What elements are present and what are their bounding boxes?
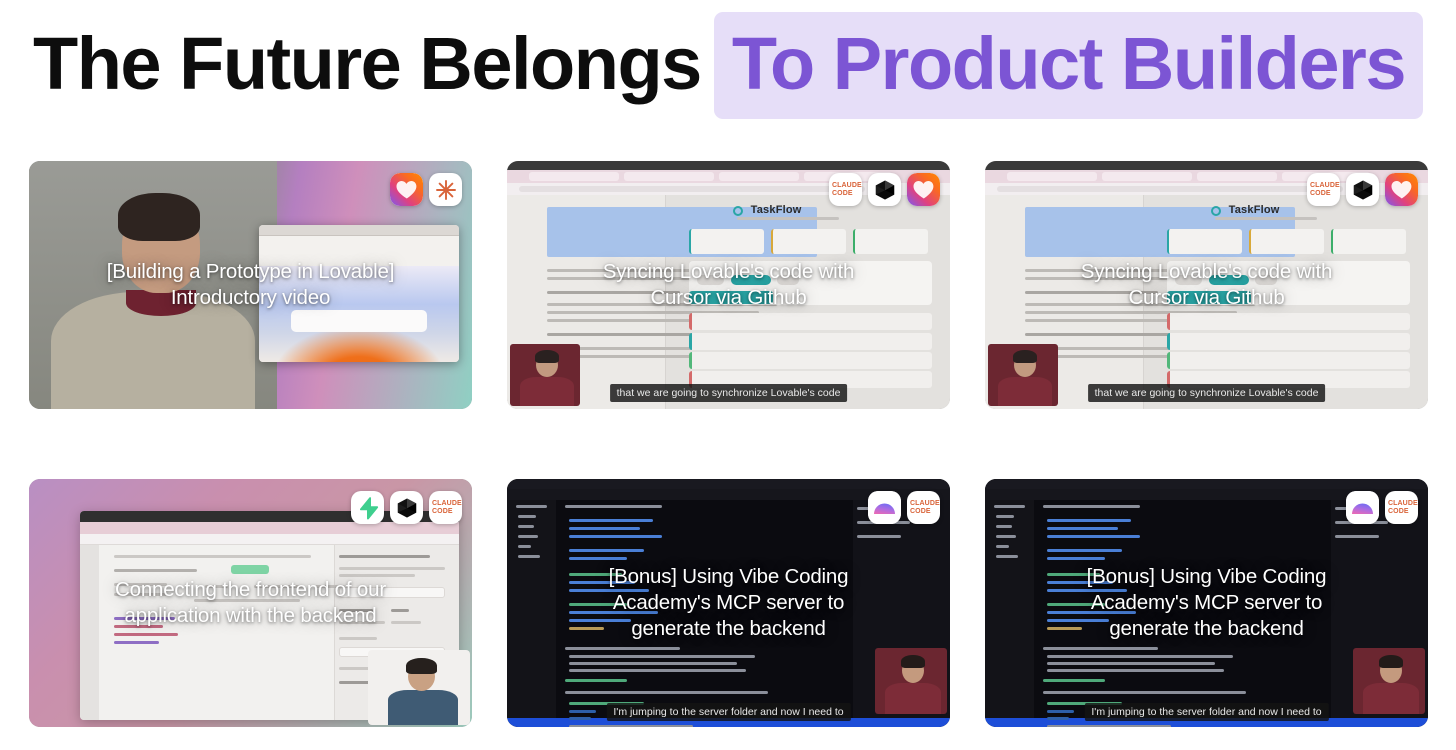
page-title-plain: The Future Belongs bbox=[33, 22, 701, 105]
caption-strip: I'm jumping to the server folder and now… bbox=[1084, 703, 1328, 721]
burst-star-icon[interactable] bbox=[429, 173, 462, 206]
video-card[interactable]: CLAUDE CODE [Bonus] Using Vibe Coding Ac… bbox=[507, 479, 950, 727]
page-title-highlight: To Product Builders bbox=[714, 12, 1423, 119]
video-card[interactable]: TaskFlow CLAUDE bbox=[985, 161, 1428, 409]
claude-code-line2: CODE bbox=[832, 190, 862, 198]
claude-code-line2: CODE bbox=[1388, 508, 1418, 516]
dome-gradient-icon[interactable] bbox=[1346, 491, 1379, 524]
page-title: The Future BelongsTo Product Builders bbox=[0, 14, 1456, 114]
video-card[interactable]: CLAUDE CODE [Bonus] Using Vibe Coding Ac… bbox=[985, 479, 1428, 727]
claude-code-line2: CODE bbox=[910, 508, 940, 516]
dome-gradient-icon[interactable] bbox=[868, 491, 901, 524]
video-card[interactable]: CLAUDE CODE Connecting the frontend of o… bbox=[29, 479, 472, 727]
page-root: The Future BelongsTo Product Builders bbox=[0, 0, 1456, 750]
badge-row: CLAUDE CODE bbox=[1346, 491, 1418, 524]
claude-code-line1: CLAUDE bbox=[910, 500, 940, 508]
supabase-bolt-icon[interactable] bbox=[351, 491, 384, 524]
claude-code-line1: CLAUDE bbox=[432, 500, 462, 508]
cursor-cube-icon[interactable] bbox=[868, 173, 901, 206]
video-card[interactable]: TaskFlow CLAUDE bbox=[507, 161, 950, 409]
badge-row: CLAUDE CODE bbox=[829, 173, 940, 206]
badge-row: CLAUDE CODE bbox=[1307, 173, 1418, 206]
claude-code-line2: CODE bbox=[1310, 190, 1340, 198]
claude-code-icon[interactable]: CLAUDE CODE bbox=[1385, 491, 1418, 524]
claude-code-line1: CLAUDE bbox=[1388, 500, 1418, 508]
video-card[interactable]: [Building a Prototype in Lovable] Introd… bbox=[29, 161, 472, 409]
caption-strip: that we are going to synchronize Lovable… bbox=[610, 384, 848, 402]
cursor-cube-icon[interactable] bbox=[390, 491, 423, 524]
claude-code-line1: CLAUDE bbox=[1310, 182, 1340, 190]
caption-strip: I'm jumping to the server folder and now… bbox=[606, 703, 850, 721]
claude-code-line2: CODE bbox=[432, 508, 462, 516]
caption-strip: that we are going to synchronize Lovable… bbox=[1088, 384, 1326, 402]
badge-row: CLAUDE CODE bbox=[868, 491, 940, 524]
claude-code-icon[interactable]: CLAUDE CODE bbox=[907, 491, 940, 524]
cursor-cube-icon[interactable] bbox=[1346, 173, 1379, 206]
badge-row: CLAUDE CODE bbox=[351, 491, 462, 524]
claude-code-line1: CLAUDE bbox=[832, 182, 862, 190]
lovable-heart-icon[interactable] bbox=[390, 173, 423, 206]
badge-row bbox=[390, 173, 462, 206]
taskflow-brand-label: TaskFlow bbox=[751, 204, 802, 216]
taskflow-brand-label: TaskFlow bbox=[1229, 204, 1280, 216]
claude-code-icon[interactable]: CLAUDE CODE bbox=[829, 173, 862, 206]
video-card-grid: [Building a Prototype in Lovable] Introd… bbox=[29, 161, 1429, 727]
lovable-heart-icon[interactable] bbox=[907, 173, 940, 206]
lovable-heart-icon[interactable] bbox=[1385, 173, 1418, 206]
claude-code-icon[interactable]: CLAUDE CODE bbox=[1307, 173, 1340, 206]
claude-code-icon[interactable]: CLAUDE CODE bbox=[429, 491, 462, 524]
